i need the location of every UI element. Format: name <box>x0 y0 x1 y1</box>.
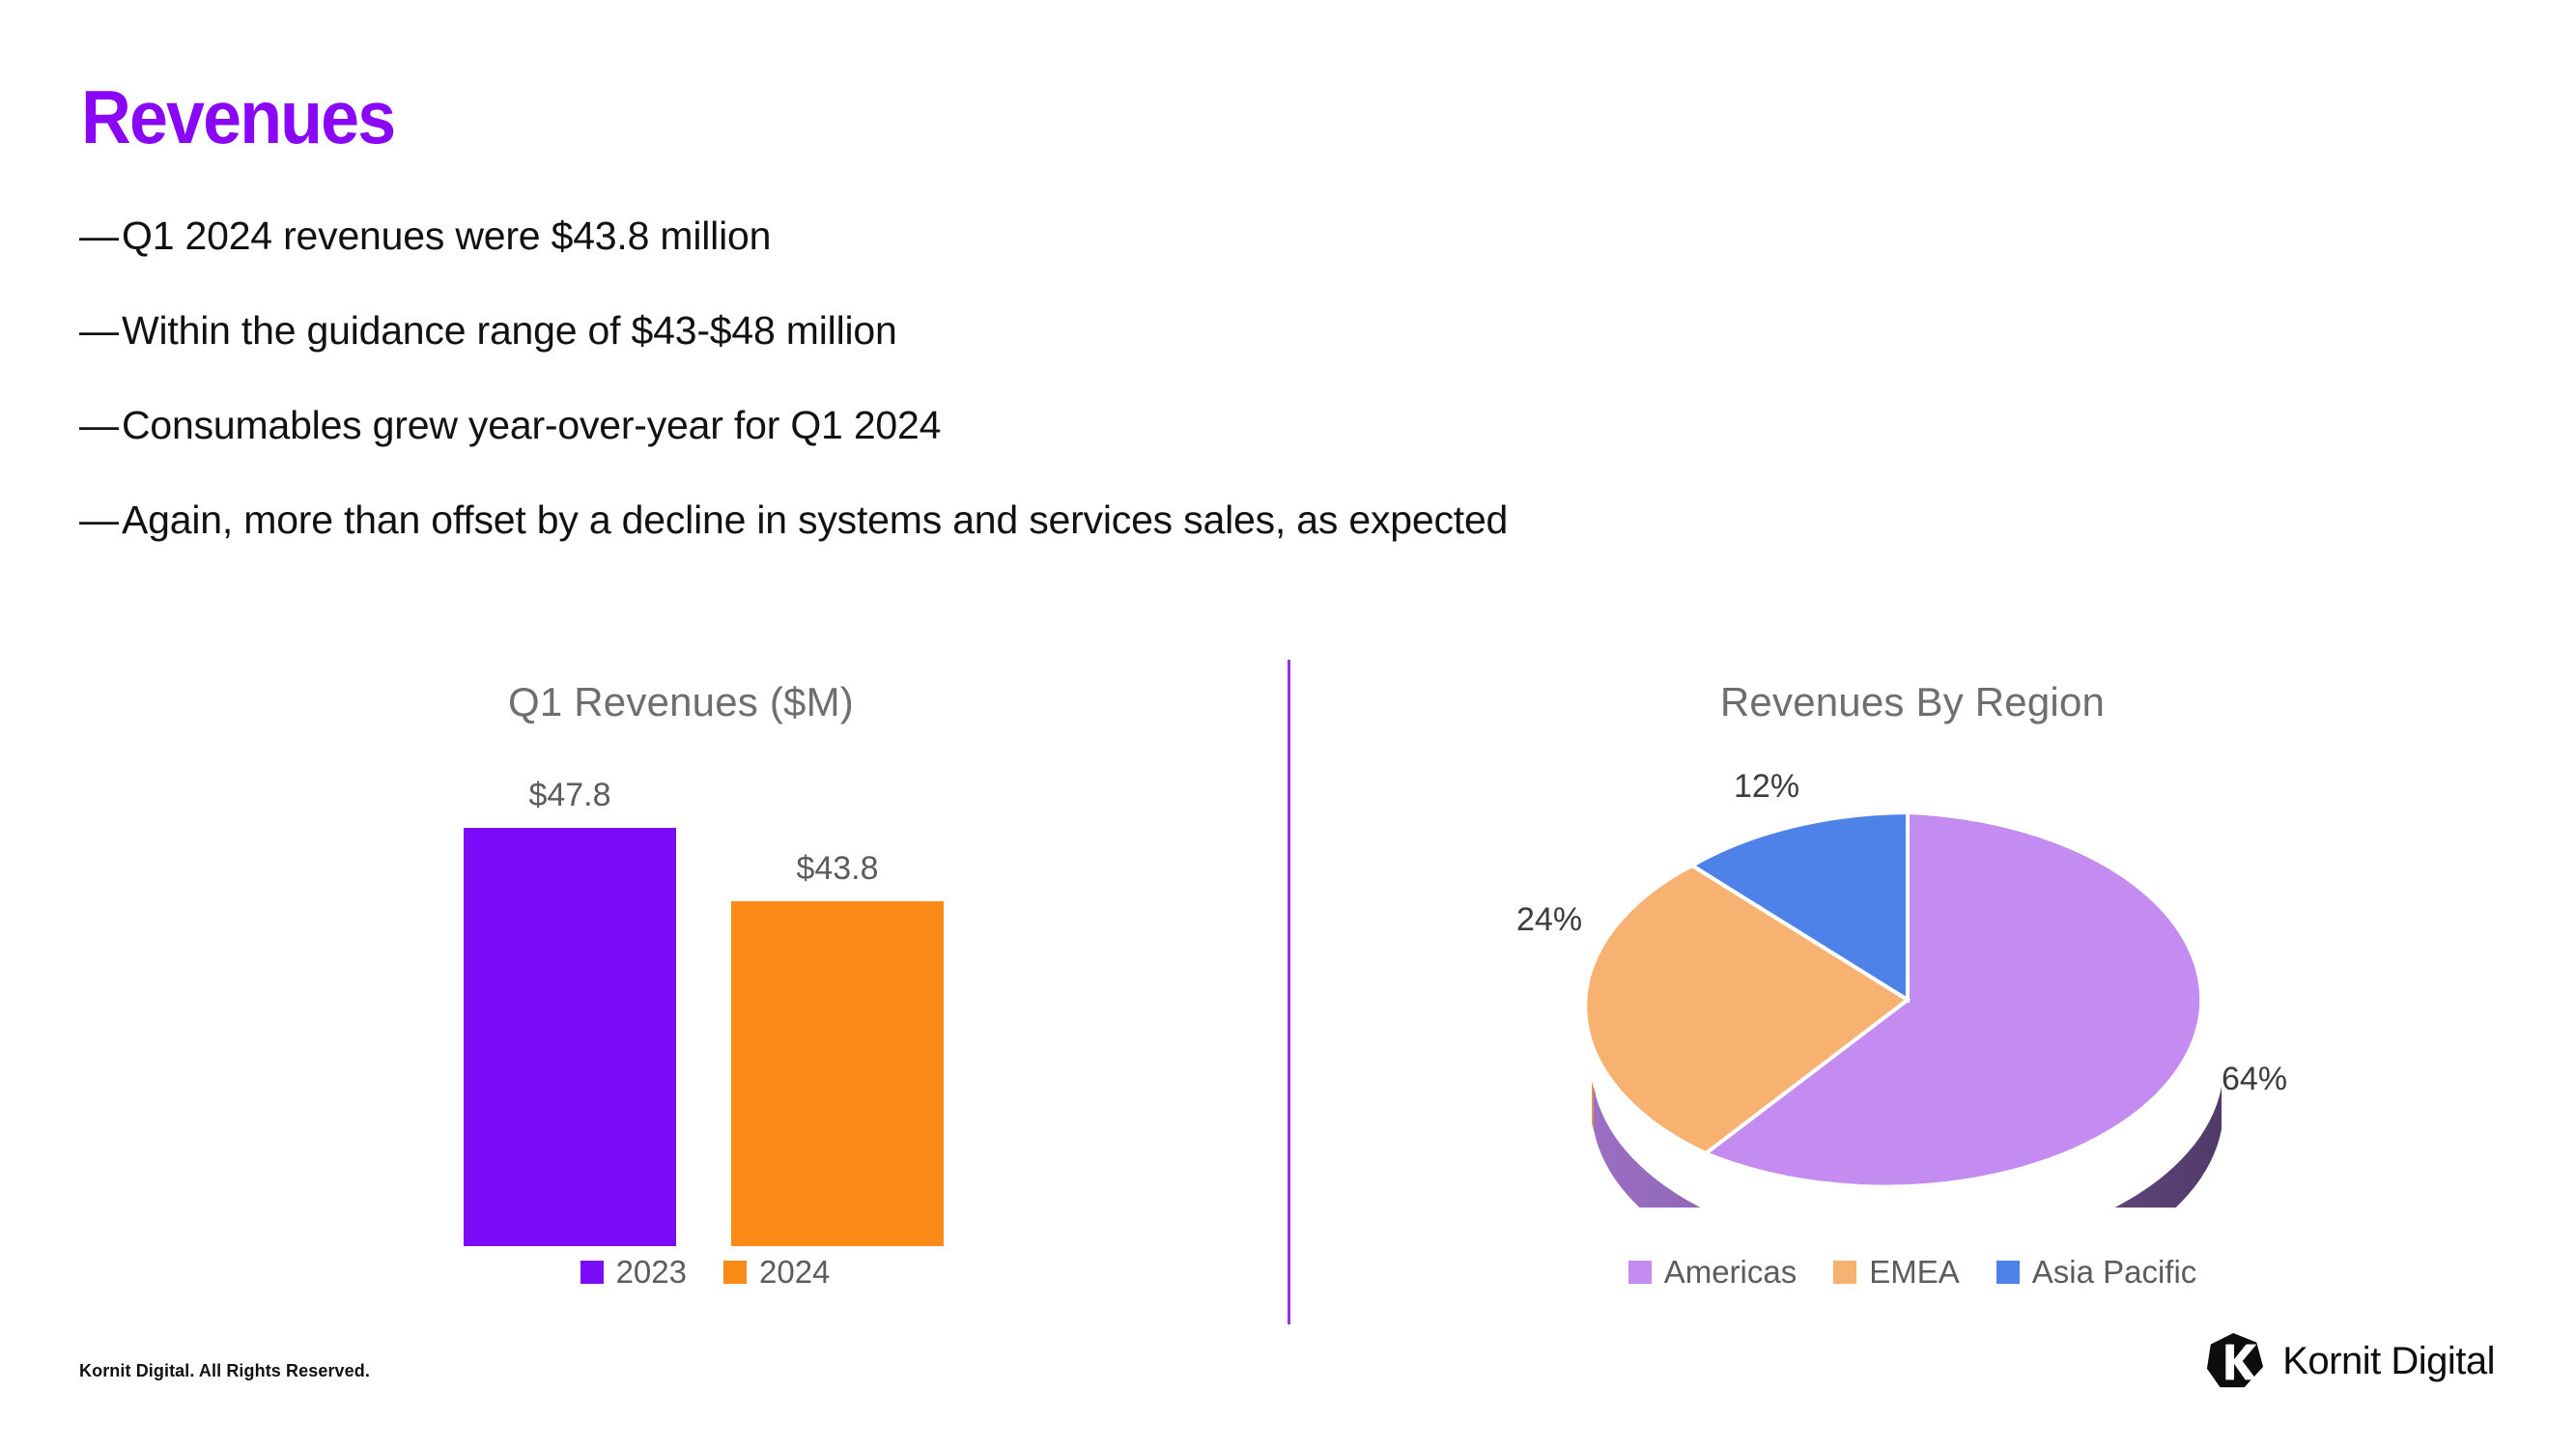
legend-swatch-icon <box>723 1261 747 1284</box>
legend-swatch-icon <box>1833 1261 1856 1284</box>
list-item: — Consumables grew year-over-year for Q1… <box>79 404 2397 447</box>
pie-chart-plot <box>1545 792 2337 1207</box>
bullet-text: Again, more than offset by a decline in … <box>122 498 1508 542</box>
bar-value-label: $43.8 <box>731 850 944 888</box>
slide-canvas: Revenues — Q1 2024 revenues were $43.8 m… <box>0 0 2576 1449</box>
bar-rect <box>464 828 676 1246</box>
pie-chart-legend: Americas EMEA Asia Pacific <box>1603 1254 2222 1291</box>
bullet-text: Q1 2024 revenues were $43.8 million <box>122 214 771 258</box>
legend-label: 2024 <box>759 1254 830 1291</box>
kornit-k-icon <box>2205 1331 2265 1391</box>
logo-text: Kornit Digital <box>2282 1340 2495 1383</box>
bullet-dash-icon: — <box>79 309 122 353</box>
bullet-text: Consumables grew year-over-year for Q1 2… <box>122 404 941 447</box>
bullet-list: — Q1 2024 revenues were $43.8 million — … <box>79 214 2397 593</box>
bullet-dash-icon: — <box>79 214 122 258</box>
list-item: — Again, more than offset by a decline i… <box>79 498 2397 542</box>
legend-label: EMEA <box>1869 1254 1960 1291</box>
bullet-text: Within the guidance range of $43-$48 mil… <box>122 309 897 353</box>
legend-item-2024[interactable]: 2024 <box>723 1254 830 1291</box>
legend-item-asia-pacific[interactable]: Asia Pacific <box>1996 1254 2197 1291</box>
pie-value-label-emea: 24% <box>1516 901 1582 939</box>
legend-item-emea[interactable]: EMEA <box>1833 1254 1960 1291</box>
legend-label: Asia Pacific <box>2032 1254 2197 1291</box>
list-item: — Within the guidance range of $43-$48 m… <box>79 309 2397 353</box>
legend-swatch-icon <box>580 1261 604 1284</box>
legend-label: 2023 <box>616 1254 687 1291</box>
legend-swatch-icon <box>1996 1261 2020 1284</box>
bullet-dash-icon: — <box>79 404 122 447</box>
bar-value-label: $47.8 <box>464 777 676 814</box>
page-title: Revenues <box>81 79 394 155</box>
bar-chart-title: Q1 Revenues ($M) <box>459 679 903 725</box>
vertical-divider <box>1288 660 1290 1324</box>
bar-rect <box>731 901 944 1246</box>
legend-swatch-icon <box>1628 1261 1652 1284</box>
kornit-digital-logo: Kornit Digital <box>2205 1331 2495 1391</box>
pie-value-label-asia-pacific: 12% <box>1734 768 1799 806</box>
list-item: — Q1 2024 revenues were $43.8 million <box>79 214 2397 258</box>
pie-chart-svg <box>1545 792 2337 1207</box>
copyright-notice: Kornit Digital. All Rights Reserved. <box>79 1361 370 1381</box>
pie-chart-title: Revenues By Region <box>1661 679 2164 725</box>
legend-label: Americas <box>1664 1254 1798 1291</box>
legend-item-2023[interactable]: 2023 <box>580 1254 687 1291</box>
bullet-dash-icon: — <box>79 498 122 542</box>
pie-value-label-americas: 64% <box>2222 1061 2287 1098</box>
bar-chart-legend: 2023 2024 <box>464 1254 947 1291</box>
bar-chart-plot: $47.8 $43.8 <box>464 773 947 1246</box>
legend-item-americas[interactable]: Americas <box>1628 1254 1798 1291</box>
